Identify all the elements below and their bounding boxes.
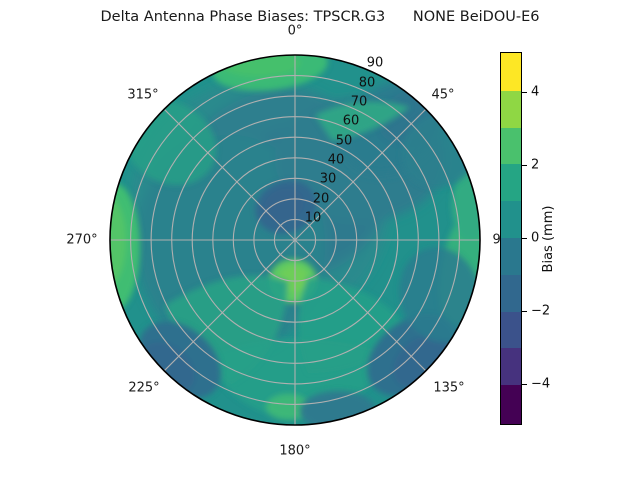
colorbar-tick-mark-0 <box>522 238 527 239</box>
figure-canvas: Delta Antenna Phase Biases: TPSCR.G3 NON… <box>0 0 640 480</box>
angular-tick-225: 225° <box>128 381 159 396</box>
colorbar-ticklabel-m4: −4 <box>531 377 550 392</box>
colorbar-band-2 <box>501 128 521 165</box>
colorbar-gradient-strip <box>500 52 522 425</box>
colorbar-band-8 <box>501 348 521 385</box>
angular-tick-315: 315° <box>127 88 158 103</box>
radial-tick-20: 20 <box>313 192 330 207</box>
radial-tick-90: 90 <box>367 56 384 71</box>
polar-contour-plot <box>110 55 480 425</box>
angular-tick-180: 180° <box>279 444 310 459</box>
colorbar-tick-mark-2 <box>522 165 527 166</box>
colorbar-band-7 <box>501 312 521 349</box>
angular-tick-135: 135° <box>433 381 464 396</box>
colorbar-band-6 <box>501 275 521 312</box>
colorbar-tick-mark-4 <box>522 92 527 93</box>
colorbar-ticklabel-4: 4 <box>531 85 539 100</box>
colorbar-ticklabel-m2: −2 <box>531 304 550 319</box>
colorbar-band-3 <box>501 164 521 201</box>
angular-tick-0: 0° <box>288 24 303 39</box>
colorbar-band-0 <box>501 53 521 91</box>
radial-tick-70: 70 <box>351 95 368 110</box>
radial-tick-40: 40 <box>328 153 345 168</box>
angular-tick-45: 45° <box>431 88 454 103</box>
colorbar-axis-label: Bias (mm) <box>541 206 556 273</box>
colorbar-band-5 <box>501 238 521 275</box>
colorbar-ticklabel-2: 2 <box>531 158 539 173</box>
colorbar-band-1 <box>501 91 521 128</box>
radial-tick-30: 30 <box>320 172 337 187</box>
colorbar-band-4 <box>501 201 521 238</box>
radial-tick-10: 10 <box>305 211 322 226</box>
polar-axes[interactable]: 0° 45° 90° 135° 180° 225° 270° 315° 10 2… <box>110 55 480 425</box>
polar-gridlines <box>110 55 480 425</box>
page-title: Delta Antenna Phase Biases: TPSCR.G3 NON… <box>0 9 640 25</box>
colorbar-tick-mark-m4 <box>522 384 527 385</box>
colorbar-band-9 <box>501 385 521 424</box>
colorbar-tick-mark-m2 <box>522 311 527 312</box>
radial-tick-50: 50 <box>336 134 353 149</box>
colorbar-ticklabel-0: 0 <box>531 231 539 246</box>
radial-tick-80: 80 <box>359 76 376 91</box>
angular-tick-270: 270° <box>66 233 97 248</box>
colorbar[interactable]: 4 2 0 −2 −4 <box>500 52 522 425</box>
radial-tick-60: 60 <box>343 114 360 129</box>
